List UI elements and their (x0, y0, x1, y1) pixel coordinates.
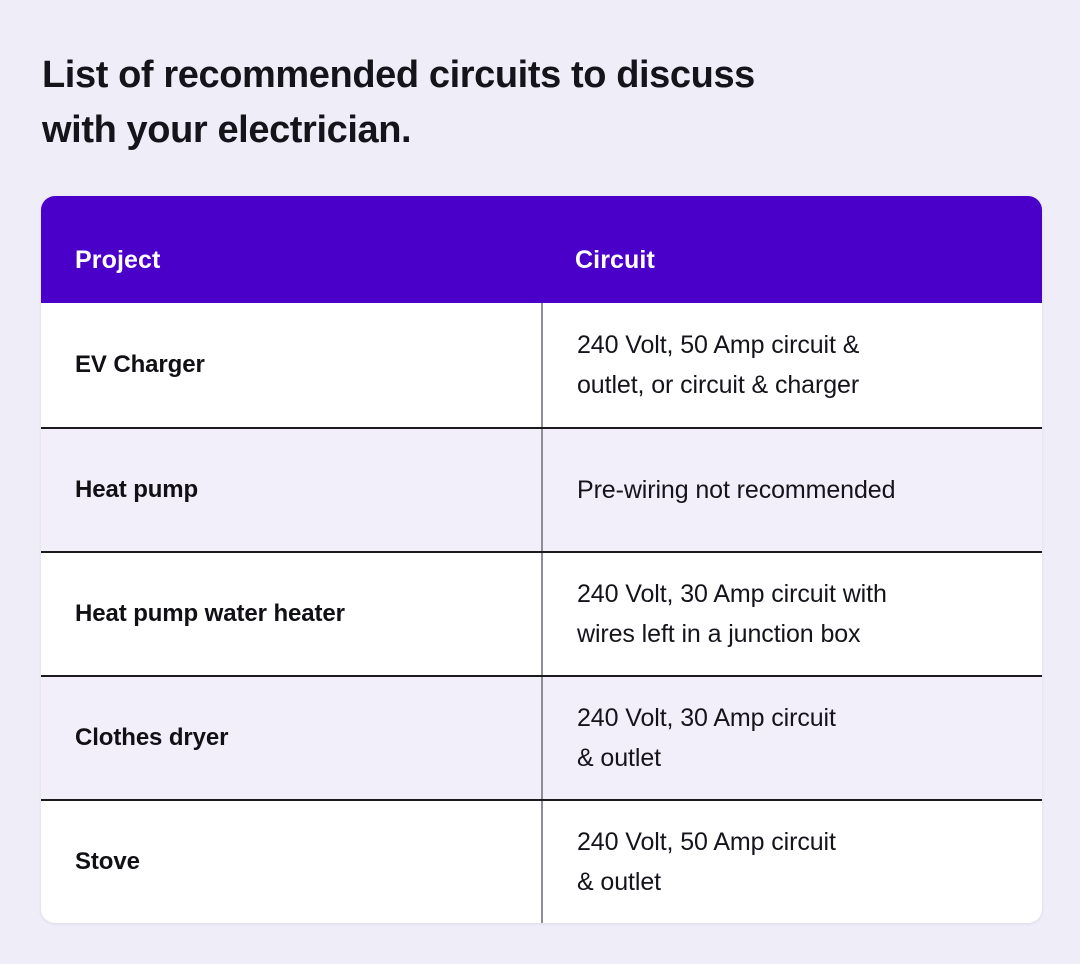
cell-circuit: 240 Volt, 50 Amp circuit & outlet (541, 801, 1042, 923)
page-root: List of recommended circuits to discuss … (0, 0, 1080, 964)
recommended-circuits-table: Project Circuit EV Charger 240 Volt, 50 … (41, 196, 1042, 923)
table-row: Heat pump Pre-wiring not recommended (41, 427, 1042, 551)
cell-circuit: 240 Volt, 30 Amp circuit & outlet (541, 677, 1042, 799)
table-row: Heat pump water heater 240 Volt, 30 Amp … (41, 551, 1042, 675)
table-row: Stove 240 Volt, 50 Amp circuit & outlet (41, 799, 1042, 923)
cell-project: Clothes dryer (41, 677, 541, 799)
table-header-row: Project Circuit (41, 196, 1042, 303)
page-title: List of recommended circuits to discuss … (42, 48, 862, 158)
column-header-project: Project (41, 246, 541, 303)
cell-circuit: 240 Volt, 50 Amp circuit & outlet, or ci… (541, 303, 1042, 427)
cell-project: Heat pump water heater (41, 553, 541, 675)
column-header-circuit: Circuit (541, 246, 1042, 303)
cell-project: Heat pump (41, 429, 541, 551)
cell-circuit: 240 Volt, 30 Amp circuit with wires left… (541, 553, 1042, 675)
table-row: Clothes dryer 240 Volt, 30 Amp circuit &… (41, 675, 1042, 799)
cell-project: EV Charger (41, 303, 541, 427)
table-row: EV Charger 240 Volt, 50 Amp circuit & ou… (41, 303, 1042, 427)
cell-circuit: Pre-wiring not recommended (541, 429, 1042, 551)
cell-project: Stove (41, 801, 541, 923)
